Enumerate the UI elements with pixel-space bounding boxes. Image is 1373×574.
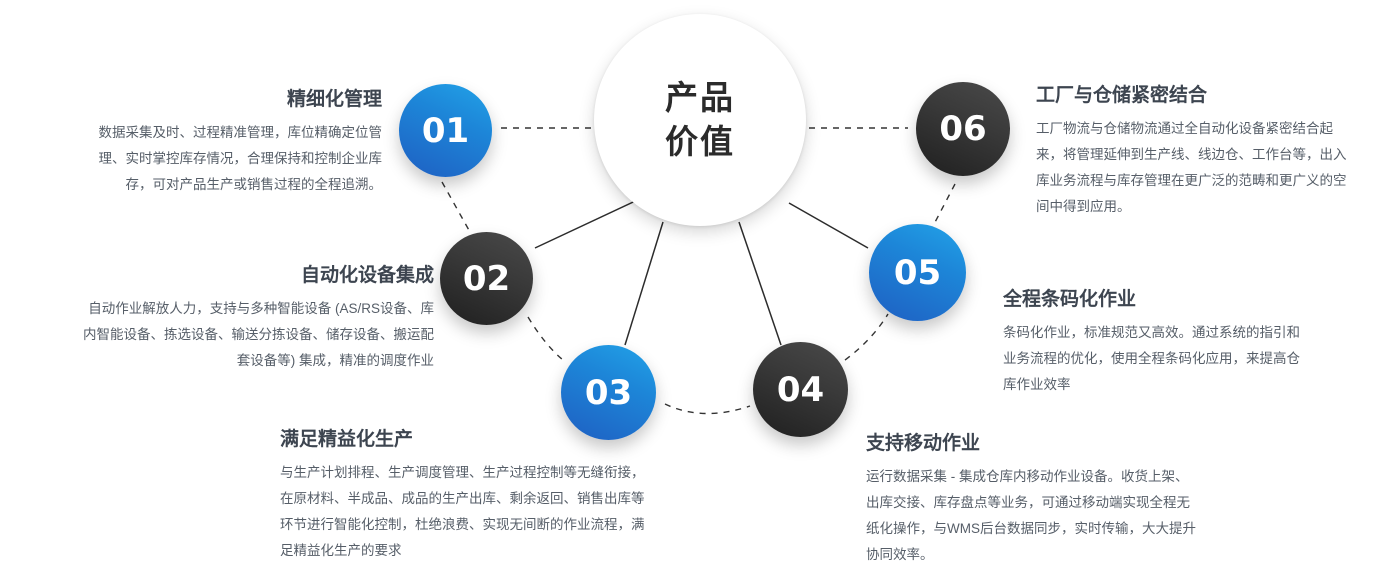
connector-05-06 [932,184,955,228]
node-05[interactable]: 05 [869,224,966,321]
hub-title-line1: 产品 [665,76,735,120]
node-04[interactable]: 04 [753,342,848,437]
feature-block-06: 工厂与仓储紧密结合 工厂物流与仓储物流通过全自动化设备紧密结合起来，将管理延伸到… [1036,80,1356,220]
feature-title-06: 工厂与仓储紧密结合 [1036,80,1356,107]
feature-body-06: 工厂物流与仓储物流通过全自动化设备紧密结合起来，将管理延伸到生产线、线边仓、工作… [1036,116,1356,220]
feature-title-03: 满足精益化生产 [280,424,650,451]
feature-block-04: 支持移动作业 运行数据采集 - 集成仓库内移动作业设备。收货上架、出库交接、库存… [866,428,1196,568]
node-06-label: 06 [939,109,986,149]
feature-block-02: 自动化设备集成 自动作业解放人力，支持与多种智能设备 (AS/RS设备、库内智能… [82,260,434,374]
feature-block-03: 满足精益化生产 与生产计划排程、生产调度管理、生产过程控制等无缝衔接，在原材料、… [280,424,650,564]
connector-hub-02 [535,196,646,248]
connector-03-04 [665,404,750,414]
node-01[interactable]: 01 [399,84,492,177]
node-01-label: 01 [422,111,469,151]
connector-02-03 [528,317,563,360]
connector-hub-04 [739,222,781,345]
connector-hub-05 [789,203,868,248]
feature-title-01: 精细化管理 [77,84,382,111]
node-05-label: 05 [894,253,941,293]
node-02[interactable]: 02 [440,232,533,325]
connector-hub-03 [625,222,663,345]
hub-title-line2: 价值 [665,120,735,164]
feature-body-04: 运行数据采集 - 集成仓库内移动作业设备。收货上架、出库交接、库存盘点等业务，可… [866,464,1196,568]
node-02-label: 02 [463,259,510,299]
feature-title-02: 自动化设备集成 [82,260,434,287]
feature-block-01: 精细化管理 数据采集及时、过程精准管理，库位精确定位管理、实时掌控库存情况，合理… [77,84,382,198]
node-06[interactable]: 06 [916,82,1010,176]
feature-body-05: 条码化作业，标准规范又高效。通过系统的指引和业务流程的优化，使用全程条码化应用，… [1003,320,1303,398]
node-03-label: 03 [585,373,632,413]
connector-04-05 [845,314,888,360]
connector-01-02 [442,182,470,232]
feature-block-05: 全程条码化作业 条码化作业，标准规范又高效。通过系统的指引和业务流程的优化，使用… [1003,284,1303,398]
feature-body-03: 与生产计划排程、生产调度管理、生产过程控制等无缝衔接，在原材料、半成品、成品的生… [280,460,650,564]
hub-circle: 产品 价值 [594,14,806,226]
feature-body-02: 自动作业解放人力，支持与多种智能设备 (AS/RS设备、库内智能设备、拣选设备、… [82,296,434,374]
feature-body-01: 数据采集及时、过程精准管理，库位精确定位管理、实时掌控库存情况，合理保持和控制企… [77,120,382,198]
node-04-label: 04 [777,370,824,410]
feature-title-04: 支持移动作业 [866,428,1196,455]
feature-title-05: 全程条码化作业 [1003,284,1303,311]
infographic-canvas: 产品 价值 01 02 03 04 05 06 精细化管理 数据采集及时、过程精… [0,0,1373,574]
